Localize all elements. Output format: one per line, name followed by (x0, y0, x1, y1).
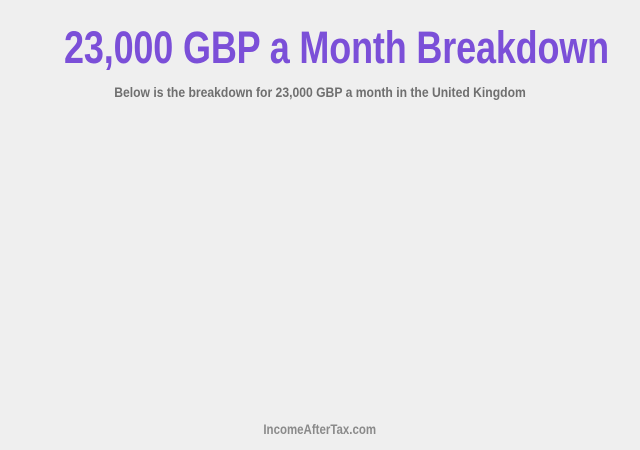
chart-area (0, 118, 640, 410)
chart-canvas (0, 118, 640, 410)
page-root: 23,000 GBP a Month Breakdown Below is th… (0, 0, 640, 450)
page-subtitle: Below is the breakdown for 23,000 GBP a … (32, 85, 608, 101)
footer-brand-label: IncomeAfterTax.com (264, 420, 377, 438)
page-title: 23,000 GBP a Month Breakdown (64, 24, 576, 72)
page-footer: IncomeAfterTax.com (0, 420, 640, 439)
